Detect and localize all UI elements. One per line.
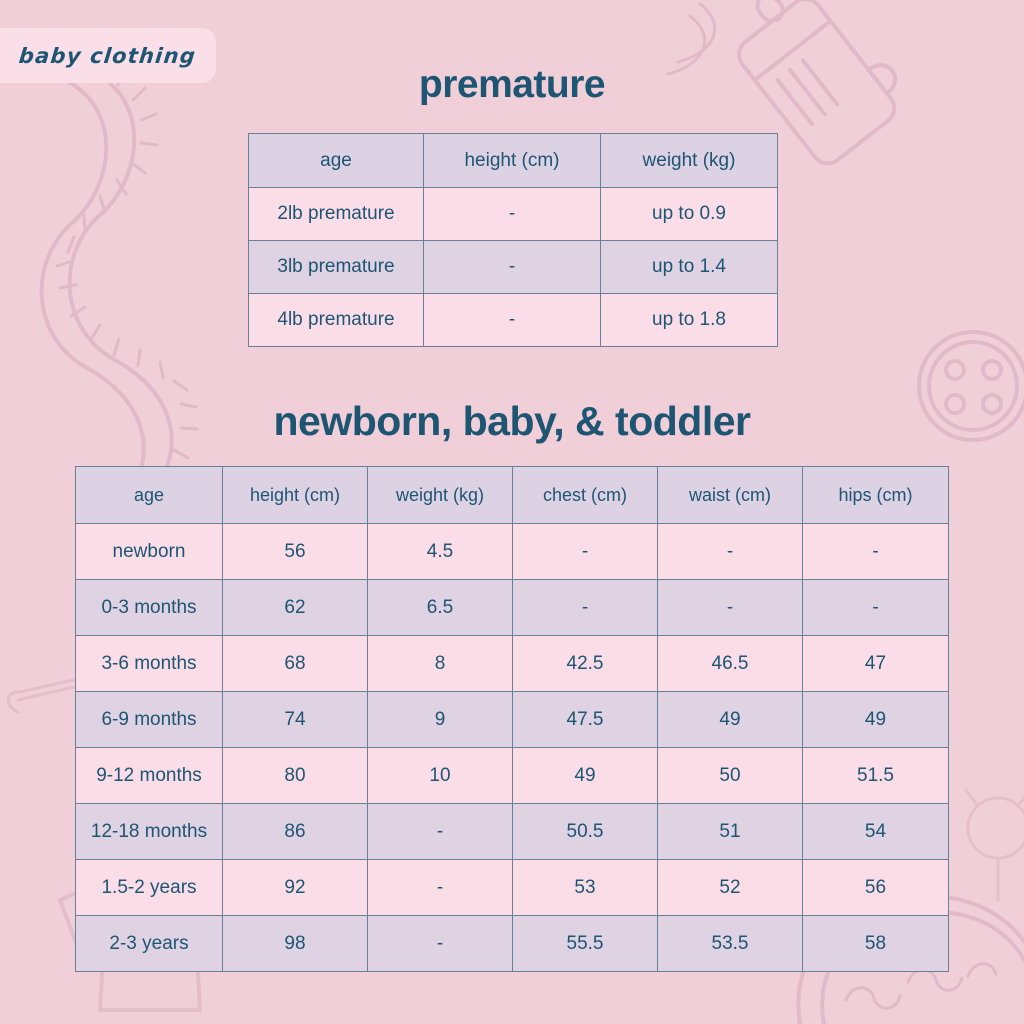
- cell-chest: 49: [513, 748, 658, 804]
- cell-age: 9-12 months: [76, 748, 223, 804]
- table-row: 2lb premature - up to 0.9: [249, 188, 778, 241]
- cell-chest: 53: [513, 860, 658, 916]
- cell-height: 68: [223, 636, 368, 692]
- cell-weight: -: [368, 804, 513, 860]
- cell-age: 0-3 months: [76, 580, 223, 636]
- table-header-row: age height (cm) weight (kg): [249, 134, 778, 188]
- cell-weight: -: [368, 860, 513, 916]
- table-row: 3lb premature - up to 1.4: [249, 241, 778, 294]
- cell-weight: 9: [368, 692, 513, 748]
- table-row: 0-3 months 62 6.5 - - -: [76, 580, 949, 636]
- column-header-weight: weight (kg): [368, 467, 513, 524]
- cell-height: -: [424, 241, 601, 294]
- table-header-row: age height (cm) weight (kg) chest (cm) w…: [76, 467, 949, 524]
- premature-size-table: age height (cm) weight (kg) 2lb prematur…: [248, 133, 778, 347]
- cell-weight: 6.5: [368, 580, 513, 636]
- cell-weight: up to 1.4: [601, 241, 778, 294]
- cell-chest: 50.5: [513, 804, 658, 860]
- cell-height: 92: [223, 860, 368, 916]
- cell-hips: 54: [803, 804, 949, 860]
- cell-age: 3lb premature: [249, 241, 424, 294]
- column-header-chest: chest (cm): [513, 467, 658, 524]
- cell-hips: 56: [803, 860, 949, 916]
- cell-age: 6-9 months: [76, 692, 223, 748]
- column-header-age: age: [249, 134, 424, 188]
- brand-badge-label: baby clothing: [18, 44, 198, 68]
- cell-chest: -: [513, 524, 658, 580]
- cell-waist: 49: [658, 692, 803, 748]
- cell-chest: 55.5: [513, 916, 658, 972]
- cell-height: 56: [223, 524, 368, 580]
- column-header-hips: hips (cm): [803, 467, 949, 524]
- cell-weight: 4.5: [368, 524, 513, 580]
- cell-hips: 51.5: [803, 748, 949, 804]
- cell-height: -: [424, 188, 601, 241]
- cell-weight: 8: [368, 636, 513, 692]
- brand-badge: baby clothing: [0, 28, 216, 83]
- cell-height: 86: [223, 804, 368, 860]
- cell-chest: -: [513, 580, 658, 636]
- table-row: 1.5-2 years 92 - 53 52 56: [76, 860, 949, 916]
- rattle-doodle: [966, 790, 1024, 900]
- table-row: 4lb premature - up to 1.8: [249, 294, 778, 347]
- cell-age: 2-3 years: [76, 916, 223, 972]
- cell-hips: 47: [803, 636, 949, 692]
- table-row: 12-18 months 86 - 50.5 51 54: [76, 804, 949, 860]
- cell-waist: 52: [658, 860, 803, 916]
- cell-hips: -: [803, 580, 949, 636]
- cell-waist: 53.5: [658, 916, 803, 972]
- section-title-newborn: newborn, baby, & toddler: [0, 398, 1024, 445]
- cell-weight: -: [368, 916, 513, 972]
- cell-height: 80: [223, 748, 368, 804]
- table-row: newborn 56 4.5 - - -: [76, 524, 949, 580]
- cell-waist: -: [658, 524, 803, 580]
- cell-waist: 50: [658, 748, 803, 804]
- cell-waist: 51: [658, 804, 803, 860]
- table-row: 6-9 months 74 9 47.5 49 49: [76, 692, 949, 748]
- cell-height: 62: [223, 580, 368, 636]
- cell-height: 74: [223, 692, 368, 748]
- cell-waist: 46.5: [658, 636, 803, 692]
- cell-weight: 10: [368, 748, 513, 804]
- cell-chest: 47.5: [513, 692, 658, 748]
- table-row: 3-6 months 68 8 42.5 46.5 47: [76, 636, 949, 692]
- table-row: 2-3 years 98 - 55.5 53.5 58: [76, 916, 949, 972]
- cell-hips: -: [803, 524, 949, 580]
- cell-height: -: [424, 294, 601, 347]
- column-header-weight: weight (kg): [601, 134, 778, 188]
- cell-height: 98: [223, 916, 368, 972]
- column-header-age: age: [76, 467, 223, 524]
- cell-weight: up to 0.9: [601, 188, 778, 241]
- cell-age: 12-18 months: [76, 804, 223, 860]
- cell-chest: 42.5: [513, 636, 658, 692]
- cell-hips: 58: [803, 916, 949, 972]
- column-header-height: height (cm): [424, 134, 601, 188]
- cell-waist: -: [658, 580, 803, 636]
- table-row: 9-12 months 80 10 49 50 51.5: [76, 748, 949, 804]
- cell-age: 2lb premature: [249, 188, 424, 241]
- column-header-height: height (cm): [223, 467, 368, 524]
- cell-age: 1.5-2 years: [76, 860, 223, 916]
- cell-age: 3-6 months: [76, 636, 223, 692]
- newborn-baby-toddler-size-table: age height (cm) weight (kg) chest (cm) w…: [75, 466, 949, 972]
- cell-age: 4lb premature: [249, 294, 424, 347]
- cell-weight: up to 1.8: [601, 294, 778, 347]
- column-header-waist: waist (cm): [658, 467, 803, 524]
- cell-age: newborn: [76, 524, 223, 580]
- cell-hips: 49: [803, 692, 949, 748]
